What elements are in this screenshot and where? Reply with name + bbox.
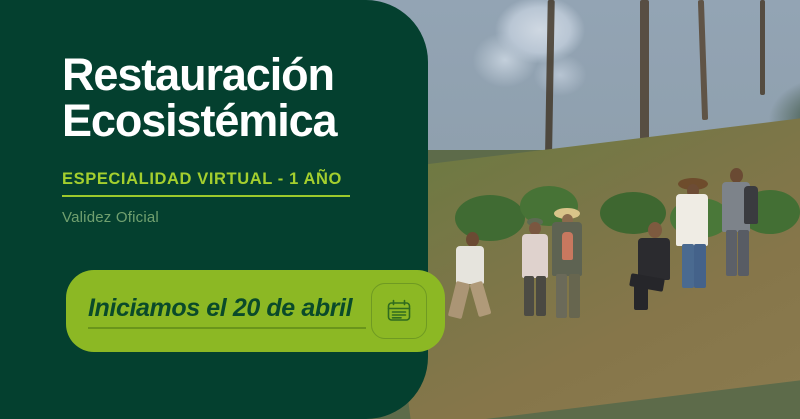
subtitle-divider xyxy=(62,195,350,197)
subtitle-block: ESPECIALIDAD VIRTUAL - 1 AÑO Validez Ofi… xyxy=(62,170,350,226)
calendar-icon[interactable] xyxy=(371,283,427,339)
program-subtitle: ESPECIALIDAD VIRTUAL - 1 AÑO xyxy=(62,170,350,189)
page-title: Restauración Ecosistémica xyxy=(62,52,442,145)
shrub xyxy=(455,195,525,241)
validity-label: Validez Oficial xyxy=(62,209,350,226)
start-date-cta[interactable]: Iniciamos el 20 de abril xyxy=(66,270,445,352)
banner-content: Restauración Ecosistémica ESPECIALIDAD V… xyxy=(62,52,442,241)
promo-banner: Restauración Ecosistémica ESPECIALIDAD V… xyxy=(0,0,800,419)
cta-underline xyxy=(88,327,366,329)
cta-text-wrap: Iniciamos el 20 de abril xyxy=(88,294,366,329)
cta-label: Iniciamos el 20 de abril xyxy=(88,294,366,323)
